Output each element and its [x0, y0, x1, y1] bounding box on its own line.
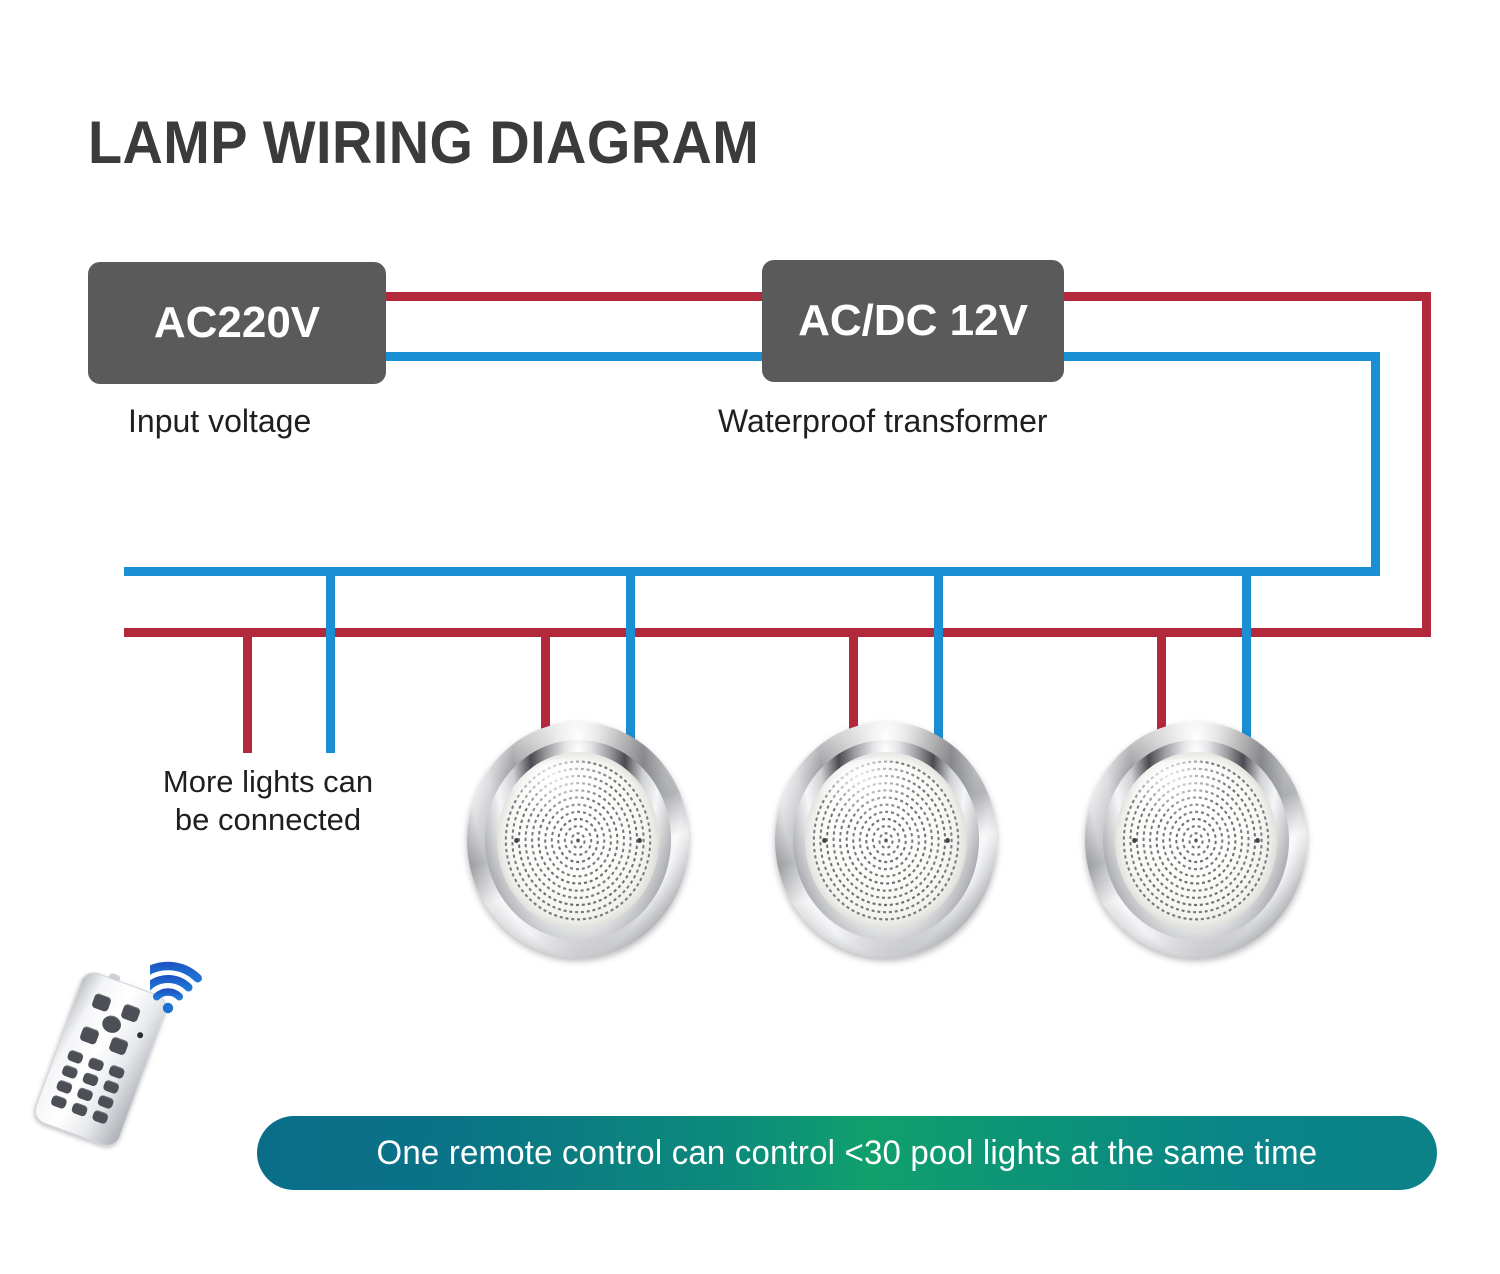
transformer-caption: Waterproof transformer — [718, 403, 1048, 440]
lamp-lens — [497, 752, 659, 929]
remote-indicator-led — [136, 1031, 144, 1039]
more-lights-note: More lights can be connected — [128, 763, 408, 839]
wiring-diagram-canvas: LAMP WIRING DIAGRAM AC220V Input voltage… — [0, 0, 1500, 1274]
stub-red-spare — [243, 628, 252, 753]
lamp-lens — [805, 752, 967, 929]
remote-key-9[interactable] — [97, 1094, 115, 1109]
wire-blue-source-to-transformer — [386, 352, 766, 361]
remote-key-10[interactable] — [50, 1094, 68, 1109]
pool-light-1[interactable] — [467, 722, 689, 958]
remote-button-up-right[interactable] — [120, 1003, 141, 1023]
led-array-icon — [1115, 752, 1277, 929]
remote-key-3[interactable] — [108, 1064, 126, 1079]
wire-blue-transformer-top — [1060, 352, 1380, 361]
lamp-lens — [1115, 752, 1277, 929]
remote-button-up-left[interactable] — [91, 993, 112, 1013]
remote-button-down-left[interactable] — [79, 1025, 100, 1045]
wifi-signal-icon — [150, 946, 234, 1024]
more-lights-line-1: More lights can — [128, 763, 408, 801]
page-title: LAMP WIRING DIAGRAM — [88, 108, 759, 177]
wire-blue-right-riser — [1371, 352, 1380, 576]
remote-button-power[interactable] — [100, 1013, 124, 1035]
transformer-label: AC/DC 12V — [798, 296, 1028, 346]
remote-key-8[interactable] — [76, 1087, 94, 1102]
led-array-icon — [805, 752, 967, 929]
remote-key-2[interactable] — [87, 1057, 105, 1072]
wire-red-transformer-top — [1060, 292, 1431, 301]
more-lights-line-2: be connected — [128, 801, 408, 839]
remote-key-1[interactable] — [66, 1049, 84, 1064]
remote-key-5[interactable] — [82, 1072, 100, 1087]
transformer-box[interactable]: AC/DC 12V — [762, 260, 1064, 382]
remote-key-6[interactable] — [102, 1079, 120, 1094]
bus-red-live — [124, 628, 1431, 637]
remote-key-12[interactable] — [91, 1109, 109, 1124]
led-array-icon — [497, 752, 659, 929]
power-source-label: AC220V — [154, 298, 320, 348]
wire-red-source-to-transformer — [386, 292, 766, 301]
info-banner-text: One remote control can control <30 pool … — [377, 1134, 1318, 1173]
pool-light-2[interactable] — [775, 722, 997, 958]
pool-light-3[interactable] — [1085, 722, 1307, 958]
bus-blue-neutral — [124, 567, 1380, 576]
remote-key-11[interactable] — [71, 1102, 89, 1117]
info-banner: One remote control can control <30 pool … — [257, 1116, 1437, 1190]
power-source-caption: Input voltage — [128, 403, 311, 440]
wire-red-right-riser — [1422, 292, 1431, 637]
remote-key-7[interactable] — [55, 1079, 73, 1094]
power-source-box[interactable]: AC220V — [88, 262, 386, 384]
remote-button-down-right[interactable] — [108, 1036, 129, 1056]
stub-blue-spare — [326, 567, 335, 753]
remote-key-4[interactable] — [61, 1064, 79, 1079]
